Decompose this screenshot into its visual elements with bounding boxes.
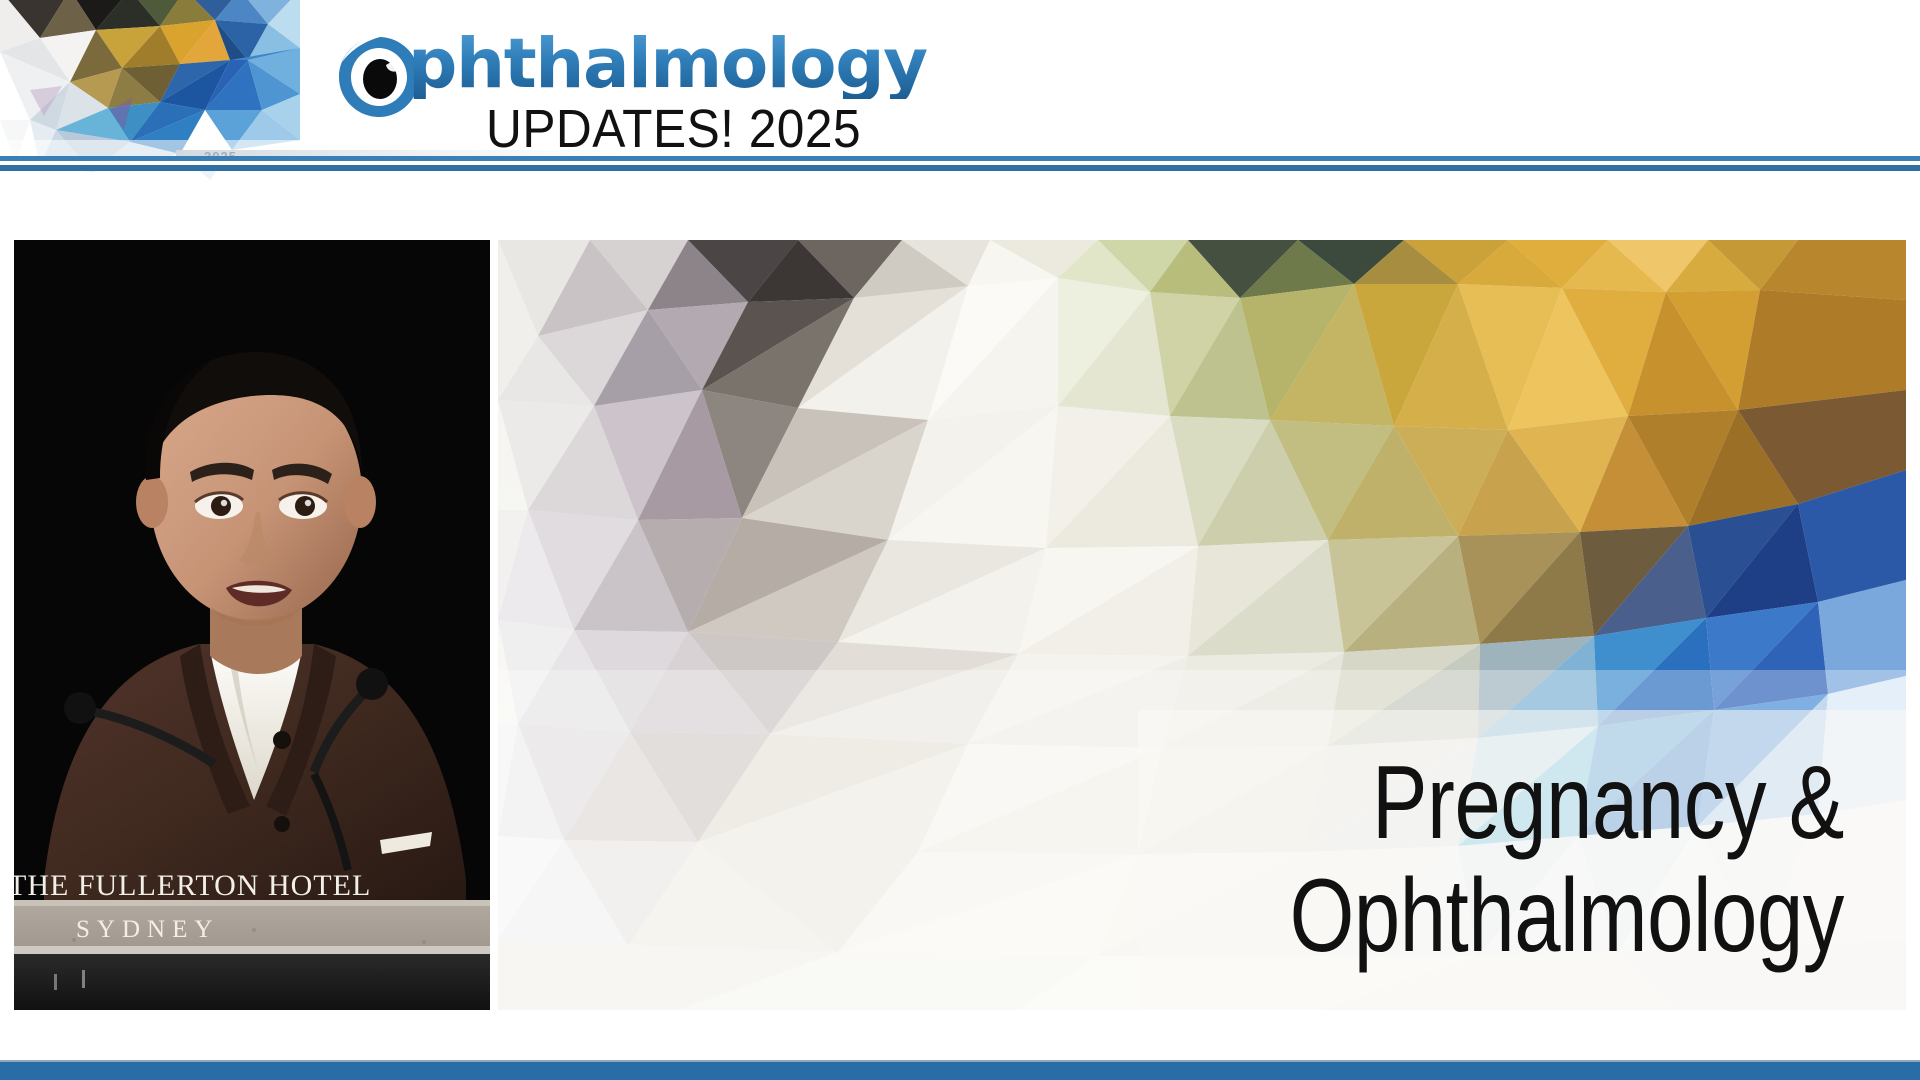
brand-name: phthalmology (408, 30, 927, 99)
slide-title-line-1: Pregnancy & (1290, 747, 1844, 859)
header-rule-bottom (0, 165, 1920, 171)
slide-tile[interactable]: Pregnancy & Ophthalmology (498, 240, 1906, 1010)
page-header: phthalmology UPDATES! 2025 2025 (0, 0, 1920, 186)
lectern-base-mark-2 (82, 970, 85, 988)
speaker-video-tile[interactable]: THE FULLERTON HOTEL SYDNEY (14, 240, 490, 1010)
lectern-venue-name: THE FULLERTON HOTEL (14, 869, 428, 903)
brand-lockup: phthalmology UPDATES! 2025 (336, 14, 1056, 164)
lectern-base-mark (54, 974, 57, 990)
page-footer (0, 1056, 1920, 1080)
footer-accent-bar (0, 1060, 1920, 1080)
slide-title: Pregnancy & Ophthalmology (1290, 747, 1844, 972)
slide-title-line-2: Ophthalmology (1290, 860, 1844, 972)
presentation-viewer: phthalmology UPDATES! 2025 2025 (0, 0, 1920, 1080)
content-area: THE FULLERTON HOTEL SYDNEY (0, 186, 1920, 1020)
lectern-base (14, 952, 490, 1010)
lectern-venue-city: SYDNEY (76, 916, 406, 944)
lectern-edge-highlight (14, 946, 490, 954)
